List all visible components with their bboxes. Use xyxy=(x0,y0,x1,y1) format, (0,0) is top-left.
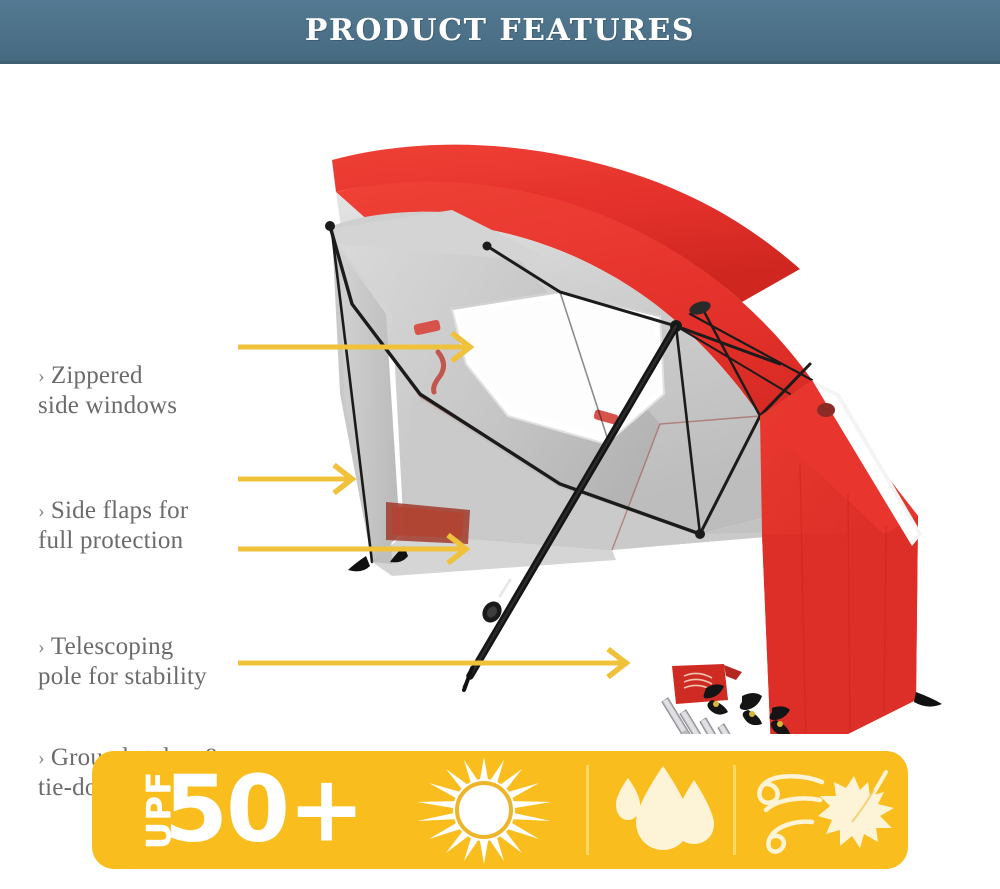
sun-icon-cell xyxy=(382,751,586,869)
rain-icon-cell xyxy=(589,751,733,869)
bullet-chevron-icon: › xyxy=(38,500,45,522)
product-image-stage: ›Zippered side windows ›Side flaps for f… xyxy=(0,64,1000,734)
upf-rating-badge: UPF 50+ xyxy=(92,751,908,869)
upf-rating-value: 50+ xyxy=(164,770,363,851)
feature-label-telescoping-pole: ›Telescoping pole for stability xyxy=(38,601,207,693)
feature-text: Telescoping pole for stability xyxy=(38,633,207,691)
page-title: PRODUCT FEATURES xyxy=(305,13,695,48)
bullet-chevron-icon: › xyxy=(38,636,45,658)
feature-label-zippered-side-windows: ›Zippered side windows xyxy=(38,330,177,422)
feature-text: Zippered side windows xyxy=(38,362,177,420)
rain-icon xyxy=(606,762,716,858)
sun-icon xyxy=(409,755,559,865)
wind-leaf-icon-cell xyxy=(736,751,908,869)
badge-icon-row xyxy=(382,751,908,869)
bullet-chevron-icon: › xyxy=(38,747,45,769)
bullet-chevron-icon: › xyxy=(38,365,45,387)
wind-leaf-icon xyxy=(742,760,902,860)
header-bar: PRODUCT FEATURES xyxy=(0,0,1000,64)
feature-label-side-flaps: ›Side flaps for full protection xyxy=(38,465,188,557)
feature-text: Side flaps for full protection xyxy=(38,497,188,555)
